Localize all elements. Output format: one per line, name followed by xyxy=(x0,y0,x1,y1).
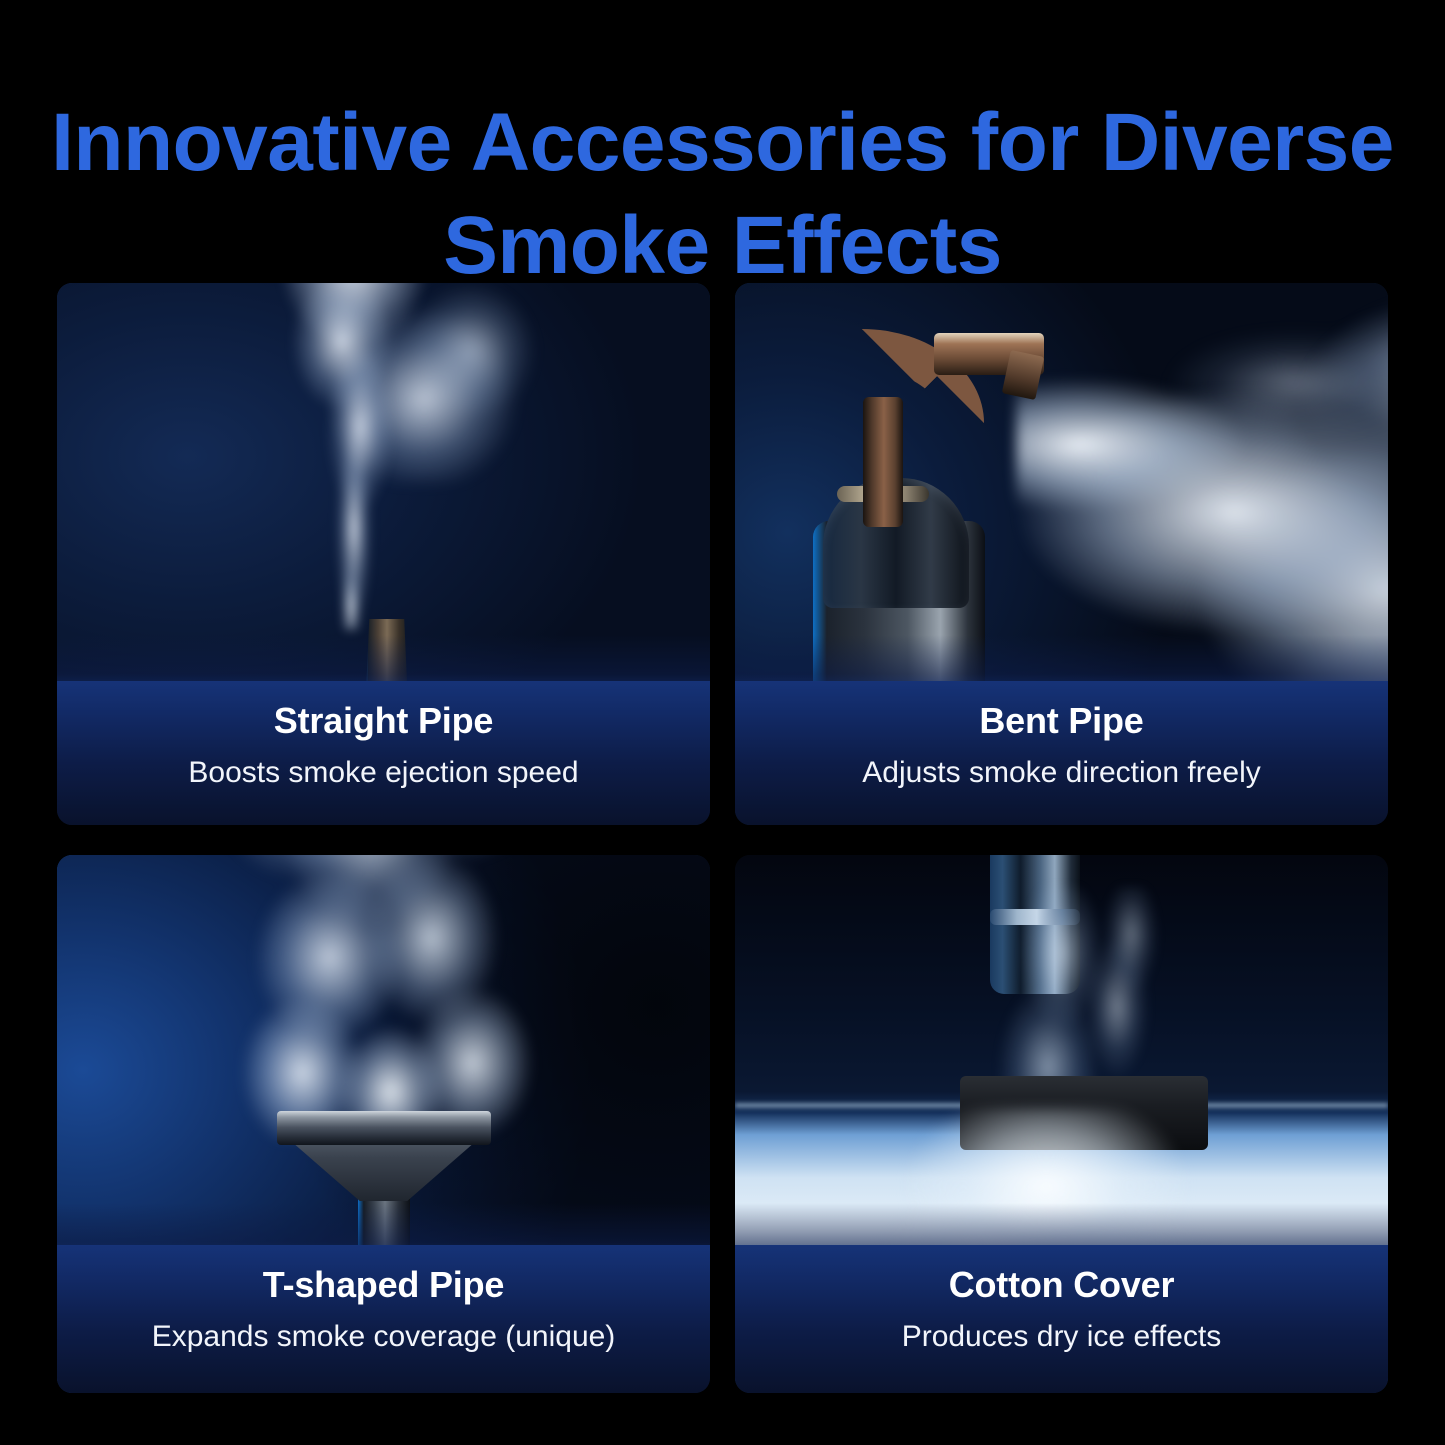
card-subtitle: Expands smoke coverage (unique) xyxy=(57,1319,710,1355)
card-subtitle: Adjusts smoke direction freely xyxy=(735,755,1388,791)
card-caption: Straight Pipe Boosts smoke ejection spee… xyxy=(57,681,710,825)
t-shaped-pipe-head-icon xyxy=(277,1111,491,1145)
card-caption: T-shaped Pipe Expands smoke coverage (un… xyxy=(57,1245,710,1393)
accessory-card-cotton-cover[interactable]: Cotton Cover Produces dry ice effects xyxy=(735,855,1388,1393)
page-title: Innovative Accessories for Diverse Smoke… xyxy=(0,91,1445,298)
accessory-card-t-shaped-pipe[interactable]: T-shaped Pipe Expands smoke coverage (un… xyxy=(57,855,710,1393)
card-subtitle: Produces dry ice effects xyxy=(735,1319,1388,1355)
card-subtitle: Boosts smoke ejection speed xyxy=(57,755,710,791)
card-title: Cotton Cover xyxy=(735,1263,1388,1307)
accessory-card-bent-pipe[interactable]: Bent Pipe Adjusts smoke direction freely xyxy=(735,283,1388,825)
card-caption: Bent Pipe Adjusts smoke direction freely xyxy=(735,681,1388,825)
accessory-card-grid: Straight Pipe Boosts smoke ejection spee… xyxy=(57,283,1388,1393)
card-title: Straight Pipe xyxy=(57,699,710,743)
smoke-fan-icon xyxy=(214,855,554,1140)
accessory-card-straight-pipe[interactable]: Straight Pipe Boosts smoke ejection spee… xyxy=(57,283,710,825)
card-caption: Cotton Cover Produces dry ice effects xyxy=(735,1245,1388,1393)
infographic-page: Innovative Accessories for Diverse Smoke… xyxy=(0,0,1445,1445)
smoke-plume-icon xyxy=(276,283,426,630)
card-title: T-shaped Pipe xyxy=(57,1263,710,1307)
card-title: Bent Pipe xyxy=(735,699,1388,743)
